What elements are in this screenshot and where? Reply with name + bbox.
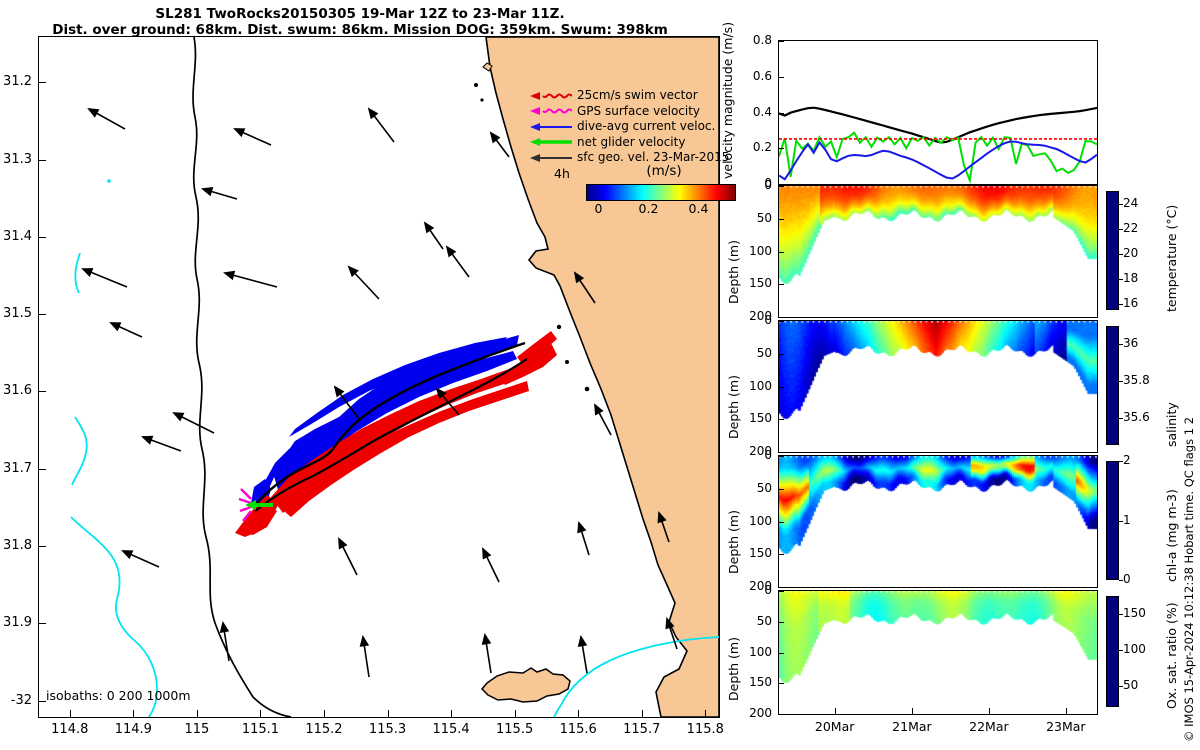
temperature-section-ytickmark [778,219,784,220]
geo-arrow-head-14 [143,437,152,444]
legend-colorbar-tick: 0.2 [637,201,661,217]
salinity-section-colorbar-tickmark [1119,381,1123,382]
map-x-tickmark [515,710,516,718]
oxygen-saturation-section-ytick: 200 [738,706,772,720]
velocity-magnitude-ylabel: velocity magnitude (m/s) [720,22,735,179]
chlorophyll-section-colorbar-tick: 0 [1123,572,1131,586]
velocity-magnitude-ytick: 0.4 [738,105,772,119]
temperature-section-colorbar-tickmark [1119,279,1123,280]
isobath-annotation: isobaths: 0 200 1000m [46,688,191,703]
panel-velocity-magnitude[interactable] [778,40,1098,185]
oxygen-saturation-section-ytickmark [778,653,784,654]
geo-arrow-head-16 [339,539,346,548]
map-x-tick: 114.9 [103,722,163,737]
panel-salinity-section[interactable] [778,320,1098,453]
salinity-section-ytickmark [778,354,784,355]
map-y-tick: 31.8 [0,538,32,553]
salinity-section-colorbar-label: salinity [1164,402,1179,447]
map-x-tick: 115.6 [548,722,608,737]
temperature-section-ytick: 100 [738,244,772,258]
map-y-tick: 31.3 [0,152,32,167]
velocity-magnitude-ytickmark [778,184,784,185]
temperature-section-colorbar-tickmark [1119,229,1123,230]
oxygen-saturation-section-colorbar-tickmark [1119,686,1123,687]
map-x-tick: 115 [167,722,227,737]
geo-arrow-head-1 [235,129,244,136]
temperature-section-ytick: 150 [738,276,772,290]
legend-colorbar-ticks: 00.20.4 [576,201,751,217]
legend-item-dive-avg-current: dive-avg current veloc. [530,119,746,135]
legend-arrow-dive-avg-current [530,121,572,133]
panel-chlorophyll-section[interactable] [778,455,1098,588]
geo-arrow-head-7 [447,247,455,256]
rottnest-island [482,668,570,702]
legend-colorbar [586,184,736,201]
panel-temperature-section[interactable] [778,185,1098,318]
time-axis-tickmark [989,708,990,714]
islet-dot-c [557,325,561,329]
oxygen-saturation-section-colorbar-tick: 150 [1123,606,1146,620]
legend-label-dive-avg-current: dive-avg current veloc. [577,119,715,135]
velocity-magnitude-ytickmark [778,77,784,78]
map-x-tick: 115.7 [612,722,672,737]
velocity-magnitude-graphics [779,41,1097,184]
map-x-tick: 115.8 [675,722,735,737]
temperature-section-colorbar-tickmark [1119,304,1123,305]
temperature-section-section-image [779,186,1097,317]
chlorophyll-section-colorbar-tickmark [1119,521,1123,522]
temperature-section-colorbar-tick: 16 [1123,296,1138,310]
oxygen-saturation-section-colorbar-tick: 50 [1123,678,1138,692]
salinity-section-colorbar-tick: 35.6 [1123,410,1150,424]
map-x-tick: 114.8 [40,722,100,737]
map-y-tickmark [38,546,46,547]
oxygen-saturation-section-ytick: 150 [738,675,772,689]
series-0 [779,108,1097,143]
chlorophyll-section-colorbar-tickmark [1119,461,1123,462]
chlorophyll-section-ytick: 50 [738,481,772,495]
map-x-tickmark [642,710,643,718]
oxygen-saturation-section-ytickmark [778,591,784,592]
temperature-section-colorbar [1106,191,1119,310]
chlorophyll-section-ytick: 0 [738,448,772,462]
geo-arrow-head-26 [203,188,212,195]
temperature-section-colorbar-tick: 24 [1123,196,1138,210]
map-y-tick: 31.9 [0,615,32,630]
geo-arrow-head-18 [578,523,585,532]
salinity-section-colorbar-tickmark [1119,344,1123,345]
geo-arrow-head-10 [174,413,183,420]
salinity-section-ytick: 100 [738,379,772,393]
oxygen-saturation-section-ytickmark [778,683,784,684]
temperature-section-colorbar-tickmark [1119,254,1123,255]
islet-dot-e [585,387,590,392]
geo-arrow-head-0 [89,109,98,116]
salinity-section-colorbar [1106,326,1119,445]
salinity-section-ytickmark [778,419,784,420]
time-axis-tickmark [912,708,913,714]
geo-arrow-head-4 [83,269,92,276]
legend-rows: 25cm/s swim vectorGPS surface velocitydi… [530,88,746,166]
oxygen-saturation-section-colorbar [1106,596,1119,707]
velocity-magnitude-ytickmark [778,41,784,42]
legend-label-net-glider-velocity: net glider velocity [577,135,685,151]
legend-units-label: (m/s) [604,164,724,180]
temperature-section-ytick: 0 [738,178,772,192]
geo-arrow-head-2 [369,109,377,118]
map-y-tickmark [38,160,46,161]
map-x-tick: 115.1 [230,722,290,737]
map-x-tick: 115.5 [485,722,545,737]
legend-colorbar-tick: 0 [587,201,611,217]
oxygen-saturation-section-colorbar-label: Ox. sat. ratio (%) [1164,602,1179,709]
chlorophyll-section-ytickmark [778,456,784,457]
map-legend: 25cm/s swim vectorGPS surface velocitydi… [530,88,746,166]
map-y-tickmark [38,701,46,702]
chlorophyll-section-colorbar-tick: 2 [1123,453,1131,467]
velocity-magnitude-ytickmark [778,148,784,149]
title-line-1: SL281 TwoRocks20150305 19-Mar 12Z to 23-… [0,6,720,22]
legend-arrow-sfc-geo-velocity [530,152,572,164]
time-axis-tick: 22Mar [961,719,1017,734]
salinity-section-colorbar-tick: 35.8 [1123,373,1150,387]
time-axis-tickmark [1066,708,1067,714]
isobath-1000m-south [71,517,157,717]
isobath-1000m-speck [107,179,111,183]
chlorophyll-section-section-image [779,456,1097,587]
chlorophyll-section-colorbar-tick: 1 [1123,513,1131,527]
legend-time-scale-label: 4h [554,166,570,182]
glider-track-map[interactable]: 31.231.331.431.531.631.731.831.9-32 114.… [38,36,720,718]
legend-colorbar-tick: 0.4 [687,201,711,217]
map-y-tick: -32 [0,693,32,708]
islet-dot-d [565,360,569,364]
temperature-section-colorbar-tick: 20 [1123,246,1138,260]
temperature-section-ytickmark [778,317,784,318]
geo-arrow-head-21 [361,637,368,646]
chlorophyll-section-colorbar [1106,461,1119,580]
geo-arrow-head-13 [595,405,602,414]
geo-arrow-head-17 [483,549,490,558]
isobath-1000m-mid [72,417,87,485]
velocity-magnitude-ytick: 0.2 [738,140,772,154]
temperature-section-colorbar-tick: 22 [1123,221,1138,235]
oxygen-saturation-section-ytick: 50 [738,614,772,628]
legend-item-net-glider-velocity: net glider velocity [530,135,746,151]
legend-item-swim-vector: 25cm/s swim vector [530,88,746,104]
map-y-tickmark [38,469,46,470]
velocity-magnitude-ytick: 0.6 [738,69,772,83]
time-axis-tick: 20Mar [807,719,863,734]
temperature-section-ytickmark [778,284,784,285]
salinity-section-colorbar-tick: 36 [1123,336,1138,350]
chlorophyll-section-ytickmark [778,587,784,588]
map-y-tickmark [38,314,46,315]
salinity-section-ytickmark [778,387,784,388]
geo-arrow-head-20 [221,623,228,632]
geo-arrow-head-5 [225,272,234,279]
panel-oxygen-saturation-section[interactable] [778,590,1098,715]
map-x-tickmark [133,710,134,718]
velocity-magnitude-ytick: 0.8 [738,33,772,47]
legend-arrow-swim-vector [530,90,572,102]
chlorophyll-section-ytickmark [778,489,784,490]
map-x-tick: 115.4 [421,722,481,737]
map-y-tick: 31.6 [0,383,32,398]
map-x-tickmark [451,710,452,718]
time-axis-tick: 21Mar [884,719,940,734]
geo-arrow-head-22 [483,635,490,644]
map-y-tick: 31.7 [0,461,32,476]
map-x-tick: 115.3 [358,722,418,737]
map-y-tickmark [38,82,46,83]
temperature-section-ytick: 50 [738,211,772,225]
salinity-section-ytick: 150 [738,411,772,425]
salinity-section-section-image [779,321,1097,452]
geo-arrow-head-11 [335,387,343,396]
map-x-tickmark [388,710,389,718]
legend-arrow-gps-surface-velocity [530,105,572,117]
legend-item-gps-surface-velocity: GPS surface velocity [530,104,746,120]
islet-dot-a [474,83,478,87]
chlorophyll-section-ytick: 150 [738,546,772,560]
map-y-tick: 31.5 [0,306,32,321]
salinity-section-ytickmark [778,321,784,322]
temperature-section-ytickmark [778,252,784,253]
chlorophyll-section-colorbar-label: chl-a (mg m-3) [1164,489,1179,582]
geo-arrow-head-25 [425,223,433,232]
salinity-section-colorbar-tickmark [1119,418,1123,419]
oxygen-saturation-section-ytickmark [778,622,784,623]
map-x-tickmark [70,710,71,718]
figure-title: SL281 TwoRocks20150305 19-Mar 12Z to 23-… [0,6,720,38]
map-x-tickmark [260,710,261,718]
salinity-section-ytickmark [778,452,784,453]
map-y-tickmark [38,237,46,238]
chlorophyll-section-ytick: 100 [738,514,772,528]
temperature-section-colorbar-label: temperature (°C) [1164,205,1179,312]
oxygen-saturation-section-ytick: 100 [738,645,772,659]
map-x-tickmark [197,710,198,718]
temperature-section-colorbar-tick: 18 [1123,271,1138,285]
geo-arrow-head-23 [579,637,586,646]
temperature-section-ytickmark [778,186,784,187]
copyright-notice: © IMOS 15-Apr-2024 10:12:38 Hobart time.… [1182,417,1196,742]
map-x-tick: 115.2 [294,722,354,737]
chlorophyll-section-colorbar-tickmark [1119,580,1123,581]
oxygen-saturation-section-colorbar-tickmark [1119,650,1123,651]
map-y-tick: 31.4 [0,229,32,244]
map-x-tickmark [705,710,706,718]
geo-arrow-head-3 [491,133,499,142]
geo-arrow-head-15 [123,551,132,558]
temperature-section-colorbar-tickmark [1119,204,1123,205]
oxygen-saturation-section-colorbar-tickmark [1119,614,1123,615]
map-y-tickmark [38,623,46,624]
map-y-tick: 31.2 [0,74,32,89]
legend-label-gps-surface-velocity: GPS surface velocity [577,104,700,120]
velocity-magnitude-ytickmark [778,113,784,114]
map-y-tickmark [38,391,46,392]
isobath-200m [193,37,291,717]
legend-label-swim-vector: 25cm/s swim vector [577,88,698,104]
time-axis-tickmark [835,708,836,714]
isobath-1000m-north [75,253,80,293]
map-x-tickmark [578,710,579,718]
time-axis-tick: 23Mar [1038,719,1094,734]
chlorophyll-section-ytickmark [778,522,784,523]
islet-dot-b [480,98,483,101]
oxygen-saturation-section-colorbar-tick: 100 [1123,642,1146,656]
geo-arrow-head-9 [111,323,120,330]
salinity-section-ytick: 0 [738,313,772,327]
salinity-section-ytick: 50 [738,346,772,360]
map-x-tickmark [324,710,325,718]
chlorophyll-section-ytickmark [778,554,784,555]
oxygen-saturation-section-section-image [779,591,1097,714]
legend-arrow-net-glider-velocity [530,136,572,148]
oxygen-saturation-section-ytickmark [778,714,784,715]
oxygen-saturation-section-ytick: 0 [738,583,772,597]
